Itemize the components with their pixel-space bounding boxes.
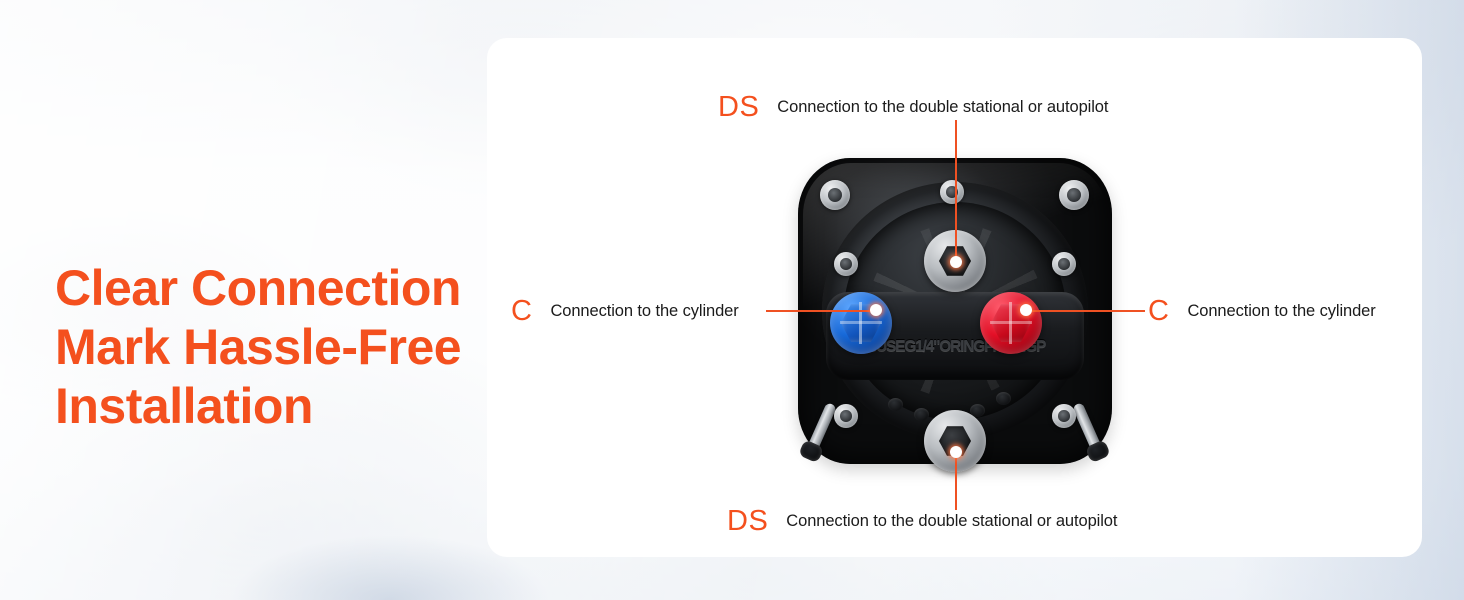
annotation-text-c: Connection to the cylinder: [550, 302, 738, 321]
annotation-c-right: C Connection to the cylinder: [1148, 297, 1376, 326]
housing-bolt: [1052, 252, 1076, 276]
annotation-text-ds: Connection to the double stational or au…: [786, 512, 1117, 531]
annotation-tag-c: C: [511, 297, 532, 326]
headline-line-2: Mark Hassle-Free: [55, 318, 485, 377]
port-cross-horizontal: [990, 321, 1032, 324]
mounting-stud: [820, 180, 850, 210]
headline-line-3: Installation: [55, 377, 485, 436]
leader-dot-c-left: [870, 304, 882, 316]
leader-line-ds-bottom: [955, 452, 957, 510]
mounting-foot: [798, 439, 824, 463]
annotation-tag-c: C: [1148, 297, 1169, 326]
leader-dot-c-right: [1020, 304, 1032, 316]
annotation-text-c: Connection to the cylinder: [1187, 302, 1375, 321]
mounting-foot: [1085, 439, 1111, 463]
vent-dimple: [996, 392, 1011, 405]
housing-bolt: [834, 404, 858, 428]
vent-dimple: [888, 398, 903, 411]
headline-line-1: Clear Connection: [55, 259, 485, 318]
annotation-text-ds: Connection to the double stational or au…: [777, 98, 1108, 117]
leader-line-ds-top: [955, 120, 957, 262]
annotation-ds-top: DS Connection to the double stational or…: [718, 93, 1108, 122]
leader-line-c-left: [766, 310, 876, 312]
page-title: Clear Connection Mark Hassle-Free Instal…: [55, 259, 485, 436]
housing-bolt: [940, 180, 964, 204]
annotation-c-left: C Connection to the cylinder: [511, 297, 739, 326]
mounting-stud: [1059, 180, 1089, 210]
port-c-left-blue[interactable]: [830, 292, 892, 354]
infographic-banner: Clear Connection Mark Hassle-Free Instal…: [0, 0, 1464, 600]
port-cross-horizontal: [840, 321, 882, 324]
leader-dot-ds-top: [950, 256, 962, 268]
vent-dimple: [914, 408, 929, 421]
housing-bolt: [1052, 404, 1076, 428]
annotation-tag-ds: DS: [727, 507, 768, 536]
annotation-tag-ds: DS: [718, 93, 759, 122]
annotation-ds-bottom: DS Connection to the double stational or…: [727, 507, 1117, 536]
housing-bolt: [834, 252, 858, 276]
leader-line-c-right: [1028, 310, 1145, 312]
leader-dot-ds-bottom: [950, 446, 962, 458]
port-c-right-red[interactable]: [980, 292, 1042, 354]
